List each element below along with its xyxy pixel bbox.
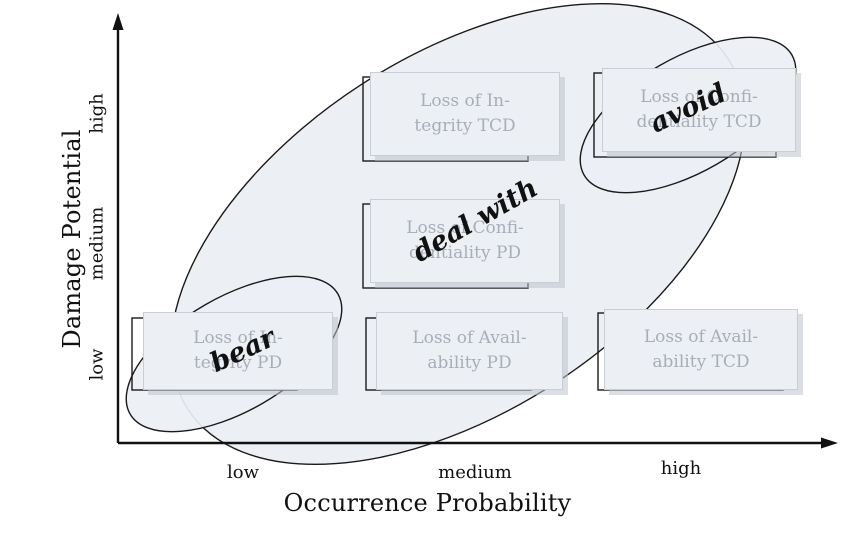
y-axis-arrowhead	[113, 13, 124, 30]
x-tick-medium: medium	[420, 462, 530, 483]
risk-cell-label: Loss of In- tegrity TCD	[414, 89, 515, 138]
y-axis-title: Damage Potential	[58, 49, 86, 429]
y-tick-low: low	[87, 330, 108, 400]
risk-matrix-diagram: Loss of In- tegrity TCD Loss of Confi- d…	[0, 0, 855, 537]
y-tick-high: high	[87, 79, 108, 149]
y-tick-medium: medium	[87, 197, 108, 291]
x-axis-title: Occurrence Probability	[0, 489, 855, 517]
risk-cell-label: Loss of Avail- ability TCD	[644, 325, 758, 374]
risk-cell-loss-availability-pd[interactable]: Loss of Avail- ability PD	[376, 312, 563, 390]
risk-cell-loss-integrity-tcd[interactable]: Loss of In- tegrity TCD	[370, 72, 560, 156]
risk-cell-loss-availability-tcd[interactable]: Loss of Avail- ability TCD	[604, 309, 798, 390]
x-tick-low: low	[198, 462, 288, 483]
x-tick-high: high	[636, 458, 726, 479]
risk-cell-label: Loss of Avail- ability PD	[412, 326, 526, 375]
x-axis-arrowhead	[821, 438, 838, 449]
